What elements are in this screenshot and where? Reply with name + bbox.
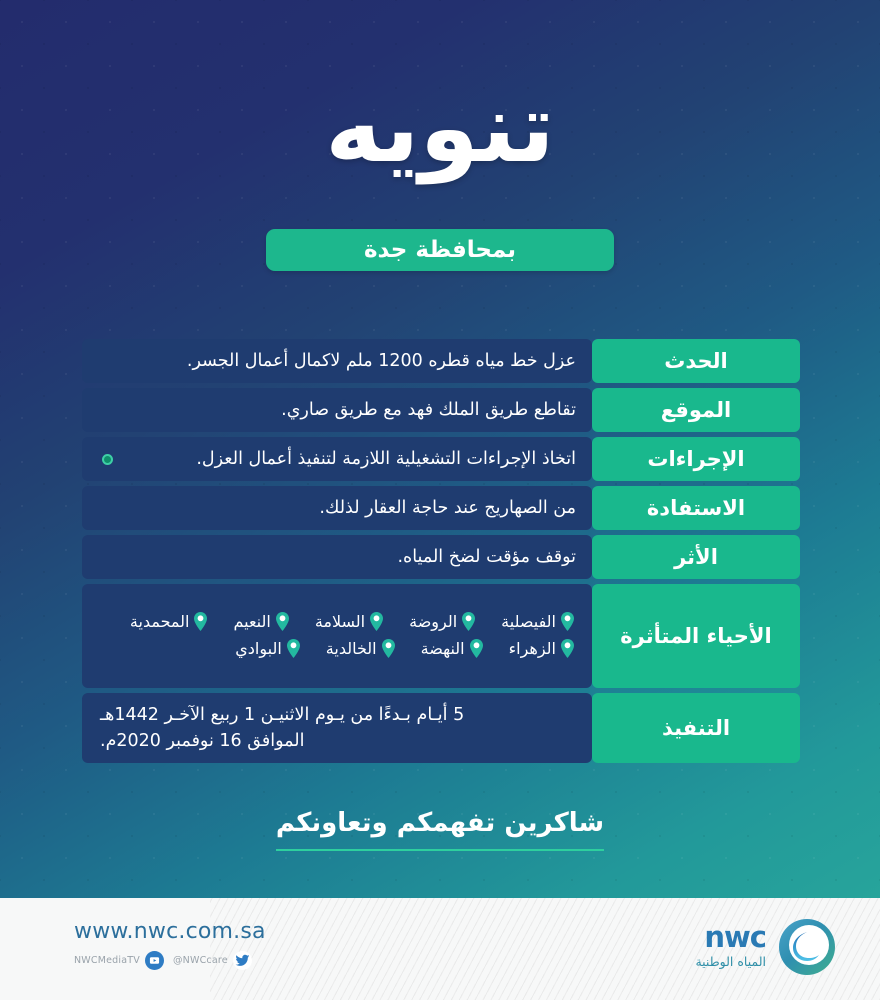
map-pin-icon bbox=[370, 612, 383, 631]
neighborhood-label: الفيصلية bbox=[501, 612, 556, 631]
neighborhood-item: المحمدية bbox=[130, 612, 208, 631]
map-pin-icon bbox=[462, 612, 475, 631]
neighborhood-line-2: الزهراء النهضة الخالدية bbox=[100, 639, 574, 658]
table-row-impact: الأثر توقف مؤقت لضخ المياه. bbox=[78, 535, 800, 579]
neighborhood-list: الفيصلية الروضة السلامة bbox=[82, 584, 592, 688]
nwc-logo-text: nwc المياه الوطنية bbox=[695, 923, 766, 970]
neighborhood-item: البوادي bbox=[235, 639, 300, 658]
row-label-impact: الأثر bbox=[592, 535, 800, 579]
neighborhood-item: الفيصلية bbox=[501, 612, 574, 631]
neighborhood-label: البوادي bbox=[235, 639, 282, 658]
social-youtube[interactable]: NWCMediaTV bbox=[74, 951, 164, 970]
row-value-procedures-text: اتخاذ الإجراءات التشغيلية اللازمة لتنفيذ… bbox=[196, 446, 576, 472]
twitter-icon bbox=[233, 951, 252, 970]
youtube-icon bbox=[145, 951, 164, 970]
row-value-implementation: 5 أيـام بـدءًا من يـوم الاثنيـن 1 ربيع ا… bbox=[82, 693, 592, 763]
table-row-affected-neighborhoods: الأحياء المتأثرة الفيصلية الروضة bbox=[78, 584, 800, 688]
website-link[interactable]: www.nwc.com.sa bbox=[74, 920, 266, 944]
nwc-wordmark: nwc bbox=[695, 923, 766, 952]
neighborhood-item: الزهراء bbox=[509, 639, 574, 658]
implementation-line-1: 5 أيـام بـدءًا من يـوم الاثنيـن 1 ربيع ا… bbox=[100, 702, 464, 728]
row-label-affected-neighborhoods: الأحياء المتأثرة bbox=[592, 584, 800, 688]
row-value-procedures: اتخاذ الإجراءات التشغيلية اللازمة لتنفيذ… bbox=[82, 437, 592, 481]
footer-contact: www.nwc.com.sa NWCMediaTV @NWCcare bbox=[74, 920, 266, 970]
nwc-logo-subtitle: المياه الوطنية bbox=[695, 954, 766, 970]
neighborhood-label: السلامة bbox=[315, 612, 365, 631]
nwc-logo-mark-icon bbox=[776, 916, 838, 978]
neighborhood-label: الزهراء bbox=[509, 639, 556, 658]
row-label-procedures: الإجراءات bbox=[592, 437, 800, 481]
infographic-page: تنويه بمحافظة جدة الحدث عزل خط مياه قطره… bbox=[0, 0, 880, 1000]
neighborhood-label: النعيم bbox=[233, 612, 270, 631]
row-value-event: عزل خط مياه قطره 1200 ملم لاكمال أعمال ا… bbox=[82, 339, 592, 383]
map-pin-icon bbox=[561, 639, 574, 658]
map-pin-icon bbox=[382, 639, 395, 658]
table-row-event: الحدث عزل خط مياه قطره 1200 ملم لاكمال أ… bbox=[78, 339, 800, 383]
row-label-event: الحدث bbox=[592, 339, 800, 383]
social-youtube-label: NWCMediaTV bbox=[74, 955, 140, 966]
map-pin-icon bbox=[194, 612, 207, 631]
bullet-dot-icon bbox=[102, 454, 113, 465]
details-table: الحدث عزل خط مياه قطره 1200 ملم لاكمال أ… bbox=[78, 339, 800, 763]
neighborhood-item: السلامة bbox=[315, 612, 383, 631]
social-links: NWCMediaTV @NWCcare bbox=[74, 951, 266, 970]
thanks-message: شاكرين تفهمكم وتعاونكم bbox=[276, 808, 604, 851]
footer-bar: www.nwc.com.sa NWCMediaTV @NWCcare bbox=[0, 898, 880, 1000]
row-label-location: الموقع bbox=[592, 388, 800, 432]
thanks-area: شاكرين تفهمكم وتعاونكم bbox=[0, 808, 880, 851]
table-row-implementation: التنفيذ 5 أيـام بـدءًا من يـوم الاثنيـن … bbox=[78, 693, 800, 763]
nwc-logo: nwc المياه الوطنية bbox=[695, 916, 838, 978]
row-label-benefit: الاستفادة bbox=[592, 486, 800, 530]
social-twitter-label: @NWCcare bbox=[173, 955, 228, 966]
map-pin-icon bbox=[276, 612, 289, 631]
neighborhood-label: الروضة bbox=[409, 612, 457, 631]
row-value-impact: توقف مؤقت لضخ المياه. bbox=[82, 535, 592, 579]
title-area: تنويه bbox=[0, 78, 880, 179]
neighborhood-label: الخالدية bbox=[326, 639, 377, 658]
table-row-benefit: الاستفادة من الصهاريج عند حاجة العقار لذ… bbox=[78, 486, 800, 530]
neighborhood-label: المحمدية bbox=[130, 612, 190, 631]
neighborhood-item: الروضة bbox=[409, 612, 475, 631]
neighborhood-line-1: الفيصلية الروضة السلامة bbox=[100, 612, 574, 631]
table-row-procedures: الإجراءات اتخاذ الإجراءات التشغيلية اللا… bbox=[78, 437, 800, 481]
neighborhood-item: النهضة bbox=[421, 639, 483, 658]
map-pin-icon bbox=[470, 639, 483, 658]
neighborhood-item: النعيم bbox=[233, 612, 288, 631]
row-value-benefit: من الصهاريج عند حاجة العقار لذلك. bbox=[82, 486, 592, 530]
city-badge: بمحافظة جدة bbox=[266, 229, 614, 271]
map-pin-icon bbox=[287, 639, 300, 658]
map-pin-icon bbox=[561, 612, 574, 631]
row-label-implementation: التنفيذ bbox=[592, 693, 800, 763]
table-row-location: الموقع تقاطع طريق الملك فهد مع طريق صاري… bbox=[78, 388, 800, 432]
page-title: تنويه bbox=[0, 78, 880, 179]
implementation-line-2: الموافق 16 نوفمبر 2020م. bbox=[100, 728, 304, 754]
neighborhood-label: النهضة bbox=[421, 639, 465, 658]
neighborhood-item: الخالدية bbox=[326, 639, 395, 658]
row-value-location: تقاطع طريق الملك فهد مع طريق صاري. bbox=[82, 388, 592, 432]
social-twitter[interactable]: @NWCcare bbox=[173, 951, 252, 970]
